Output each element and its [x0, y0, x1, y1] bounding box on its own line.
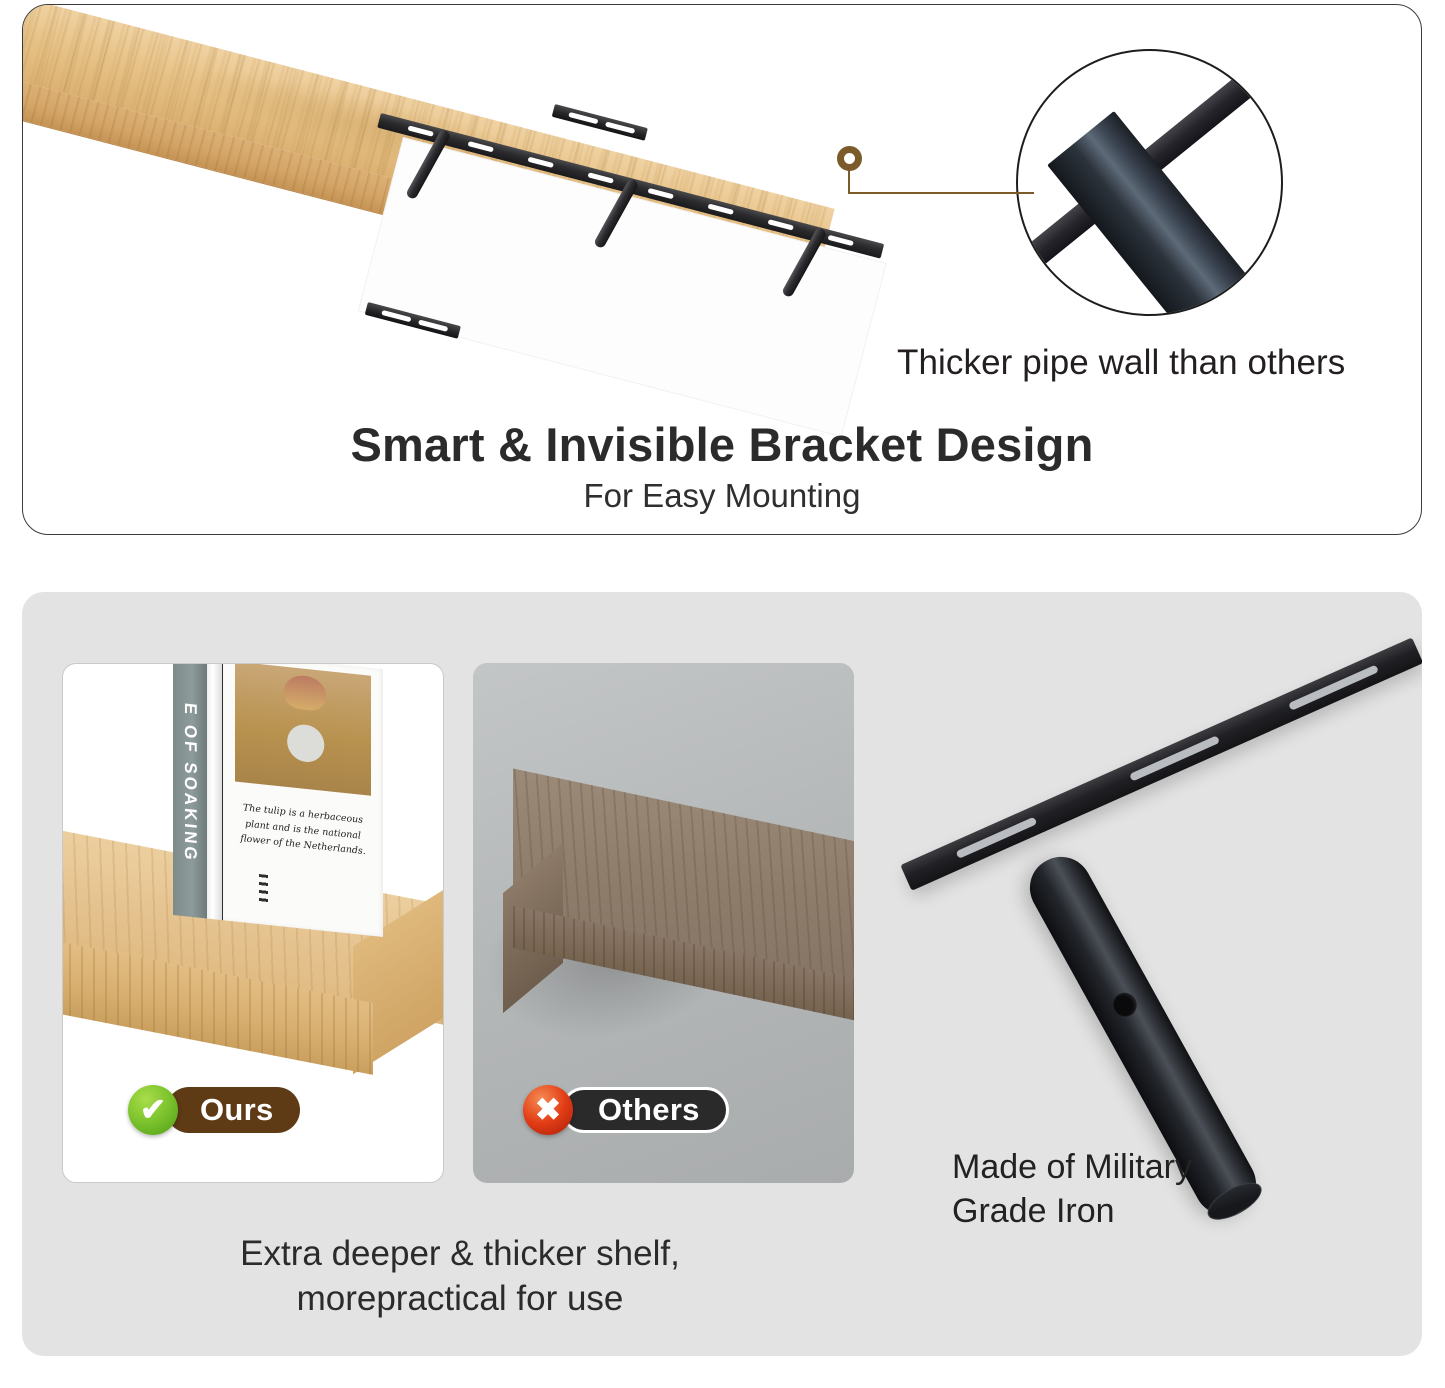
- bottom-caption-line1: Extra deeper & thicker shelf,: [60, 1232, 860, 1277]
- cross-circle-icon: ✖: [523, 1085, 573, 1135]
- top-feature-panel: Thicker pipe wall than others Smart & In…: [22, 4, 1422, 535]
- thicker-pipe-callout-label: Thicker pipe wall than others: [897, 343, 1417, 383]
- bracket-slot: [381, 310, 411, 322]
- book-cover-text: The tulip is a herbaceous plant and is t…: [237, 800, 369, 860]
- others-badge: ✖ Others: [523, 1085, 729, 1135]
- check-circle-icon: ✔: [128, 1085, 178, 1135]
- ours-badge: ✔ Ours: [128, 1085, 300, 1135]
- hero-plate-slot: [1129, 735, 1220, 781]
- callout-leader-line-vertical: [848, 170, 850, 194]
- bracket-slot: [827, 235, 853, 246]
- bracket-slot: [468, 141, 494, 152]
- ours-badge-label: Ours: [166, 1087, 300, 1133]
- hero-plate-slot: [956, 817, 1038, 859]
- book-cover: The tulip is a herbaceous plant and is t…: [223, 663, 383, 937]
- book-spine: E OF SOAKING: [173, 663, 207, 919]
- headline-subtitle: For Easy Mounting: [23, 477, 1421, 515]
- callout-marker-icon: [837, 146, 862, 171]
- book-spine-text: E OF SOAKING: [180, 702, 200, 864]
- magnified-detail-inset: [1016, 49, 1283, 316]
- hero-callout-label: Made of Military Grade Iron: [952, 1145, 1312, 1233]
- hero-slotted-plate: [900, 637, 1422, 890]
- bracket-slot: [605, 121, 635, 133]
- bracket-slot: [588, 172, 614, 183]
- others-badge-label: Others: [561, 1087, 729, 1133]
- book-cover-marks: [259, 874, 268, 905]
- hero-callout-label-line2: Grade Iron: [952, 1189, 1312, 1233]
- headline-title: Smart & Invisible Bracket Design: [23, 417, 1421, 472]
- bracket-slot: [648, 188, 674, 199]
- hero-plate-slot: [1288, 664, 1379, 710]
- hero-bracket-illustration: [896, 592, 1422, 1232]
- bracket-slot: [568, 112, 598, 124]
- bracket-slot: [418, 319, 448, 331]
- book-cover-photo: [235, 663, 371, 796]
- bracket-slot: [708, 204, 734, 215]
- hero-pipe-hole: [1109, 989, 1141, 1021]
- bottom-caption-line2: morepractical for use: [60, 1277, 860, 1322]
- callout-leader-line-horizontal: [848, 192, 1034, 194]
- book-prop: E OF SOAKING The tulip is a herbaceous p…: [173, 663, 383, 937]
- bottom-caption: Extra deeper & thicker shelf, morepracti…: [60, 1232, 860, 1322]
- hero-callout-label-line1: Made of Military: [952, 1145, 1312, 1189]
- product-infographic: Thicker pipe wall than others Smart & In…: [0, 0, 1445, 1388]
- book-pages: [207, 663, 223, 920]
- bracket-slot: [408, 125, 434, 136]
- bracket-slot: [528, 157, 554, 168]
- bracket-slot: [767, 219, 793, 230]
